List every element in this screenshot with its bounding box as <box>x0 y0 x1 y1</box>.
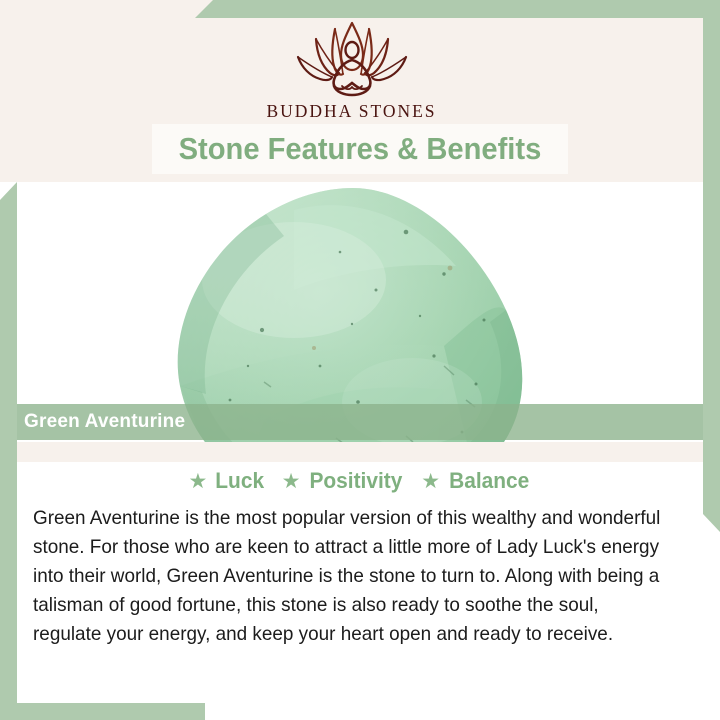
content-panel: ★ Luck ★ Positivity ★ Balance Green Aven… <box>17 440 703 703</box>
benefit-item-luck: ★ Luck <box>188 468 265 494</box>
benefit-item-balance: ★ Balance <box>421 468 531 494</box>
page-title: Stone Features & Benefits <box>179 131 542 167</box>
stone-photo <box>17 182 703 442</box>
lotus-meditation-icon <box>274 16 430 98</box>
title-banner: Stone Features & Benefits <box>152 124 568 174</box>
brand-name: BUDDHA STONES <box>266 101 436 122</box>
frame-accent-right <box>703 0 720 532</box>
green-aventurine-stone-image <box>144 182 562 442</box>
benefit-label: Positivity <box>310 468 403 494</box>
benefit-item-positivity: ★ Positivity <box>282 468 406 494</box>
benefit-label: Balance <box>449 468 529 494</box>
benefit-label: Luck <box>216 468 265 494</box>
content-top-tint <box>17 440 703 462</box>
frame-bottom-filler <box>205 703 720 720</box>
star-icon: ★ <box>421 471 440 492</box>
frame-accent-bottom <box>0 703 205 720</box>
stone-name-label: Green Aventurine <box>24 411 185 433</box>
brand-logo: BUDDHA STONES <box>0 16 703 122</box>
stone-description: Green Aventurine is the most popular ver… <box>33 504 672 649</box>
stone-features-poster: BUDDHA STONES Stone Features & Benefits <box>0 0 720 720</box>
frame-accent-top <box>195 0 720 18</box>
frame-accent-left <box>0 182 17 720</box>
star-icon: ★ <box>188 471 207 492</box>
benefits-list: ★ Luck ★ Positivity ★ Balance <box>17 468 703 494</box>
stone-name-band: Green Aventurine <box>0 404 703 440</box>
star-icon: ★ <box>282 471 301 492</box>
